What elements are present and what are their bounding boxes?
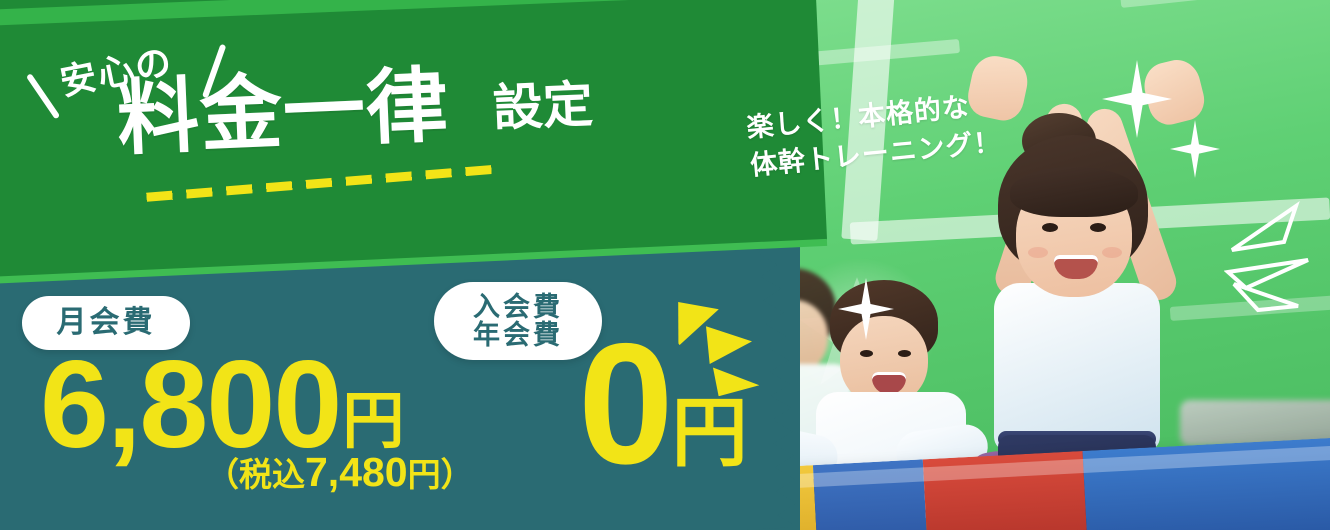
girl-eye-right <box>1090 223 1106 232</box>
enrollment-fee-number: 0 <box>578 336 670 474</box>
badge-line-2: 年会費 <box>473 320 563 350</box>
dashed-underline <box>146 165 498 202</box>
boy-eye-left <box>860 350 873 357</box>
pricing-banner: 安心の 料金一律 設定 楽しく！本格的な 体幹トレーニング！ 月会費 6,800… <box>0 0 1330 530</box>
enrollment-fee-currency: 円 <box>672 396 748 472</box>
tax-note-prefix: （税込 <box>206 456 305 493</box>
tax-included-note: （税込7,480円） <box>206 448 474 496</box>
girl-cheek-left <box>1028 247 1048 258</box>
badge-monthly-fee-label: 月会費 <box>57 307 156 339</box>
accent-triangle-icon <box>1224 198 1330 314</box>
monthly-fee-amount: 6,800 円 <box>40 352 404 459</box>
girl-fringe <box>1010 167 1138 217</box>
badge-enrollment-fee-label: 入会費年会費 <box>473 293 563 350</box>
tax-note-amount: 7,480 <box>305 449 408 495</box>
badge-enrollment-fee: 入会費年会費 <box>434 282 602 360</box>
header-content: 安心の 料金一律 設定 <box>0 0 770 250</box>
page-title: 料金一律 <box>115 65 450 161</box>
boy-eye-right <box>898 350 911 357</box>
slash-mark-left <box>26 73 60 119</box>
page-title-suffix: 設定 <box>492 79 594 133</box>
girl-shirt <box>994 283 1160 451</box>
enrollment-fee-amount: 0 円 <box>578 336 748 474</box>
monthly-fee-currency: 円 <box>342 391 404 453</box>
girl-eye-left <box>1042 223 1058 232</box>
monthly-fee-number: 6,800 <box>40 352 340 459</box>
badge-line-1: 入会費 <box>473 292 563 322</box>
tax-note-suffix: 円） <box>408 456 474 493</box>
girl-cheek-right <box>1102 247 1122 258</box>
